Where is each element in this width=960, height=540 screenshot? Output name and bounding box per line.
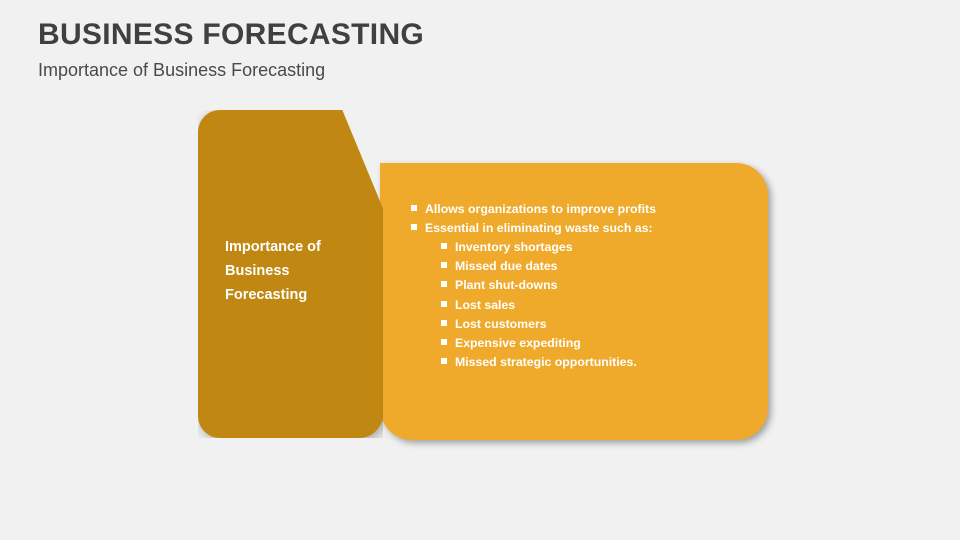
label-panel-line-1: Importance of [225,236,370,260]
list-item-label: Missed strategic opportunities. [455,353,637,372]
list-item: Essential in eliminating waste such as: [411,219,751,238]
list-item: Allows organizations to improve profits [411,200,751,219]
slide-header: BUSINESS FORECASTING Importance of Busin… [38,18,838,82]
list-item-label: Essential in eliminating waste such as: [425,219,653,238]
label-panel-line-2: Business [225,260,370,284]
square-bullet-icon [441,243,447,249]
square-bullet-icon [441,358,447,364]
list-item: Inventory shortages [411,238,751,257]
list-item: Expensive expediting [411,334,751,353]
list-item-label: Lost customers [455,315,547,334]
label-panel-line-3: Forecasting [225,284,370,308]
list-item-label: Allows organizations to improve profits [425,200,656,219]
list-item-label: Missed due dates [455,257,558,276]
list-item: Lost customers [411,315,751,334]
list-item: Plant shut-downs [411,276,751,295]
page-title: BUSINESS FORECASTING [38,18,838,51]
square-bullet-icon [411,224,417,230]
list-item-label: Lost sales [455,296,515,315]
list-item: Missed strategic opportunities. [411,353,751,372]
list-item: Missed due dates [411,257,751,276]
square-bullet-icon [441,320,447,326]
square-bullet-icon [411,205,417,211]
square-bullet-icon [441,262,447,268]
list-item: Lost sales [411,296,751,315]
bullet-list: Allows organizations to improve profits … [411,200,751,372]
page-subtitle: Importance of Business Forecasting [38,60,838,82]
importance-diagram: Importance of Business Forecasting Allow… [198,110,788,450]
square-bullet-icon [441,281,447,287]
square-bullet-icon [441,339,447,345]
list-item-label: Plant shut-downs [455,276,557,295]
label-panel-title: Importance of Business Forecasting [225,236,370,308]
list-item-label: Inventory shortages [455,238,573,257]
list-item-label: Expensive expediting [455,334,581,353]
square-bullet-icon [441,301,447,307]
